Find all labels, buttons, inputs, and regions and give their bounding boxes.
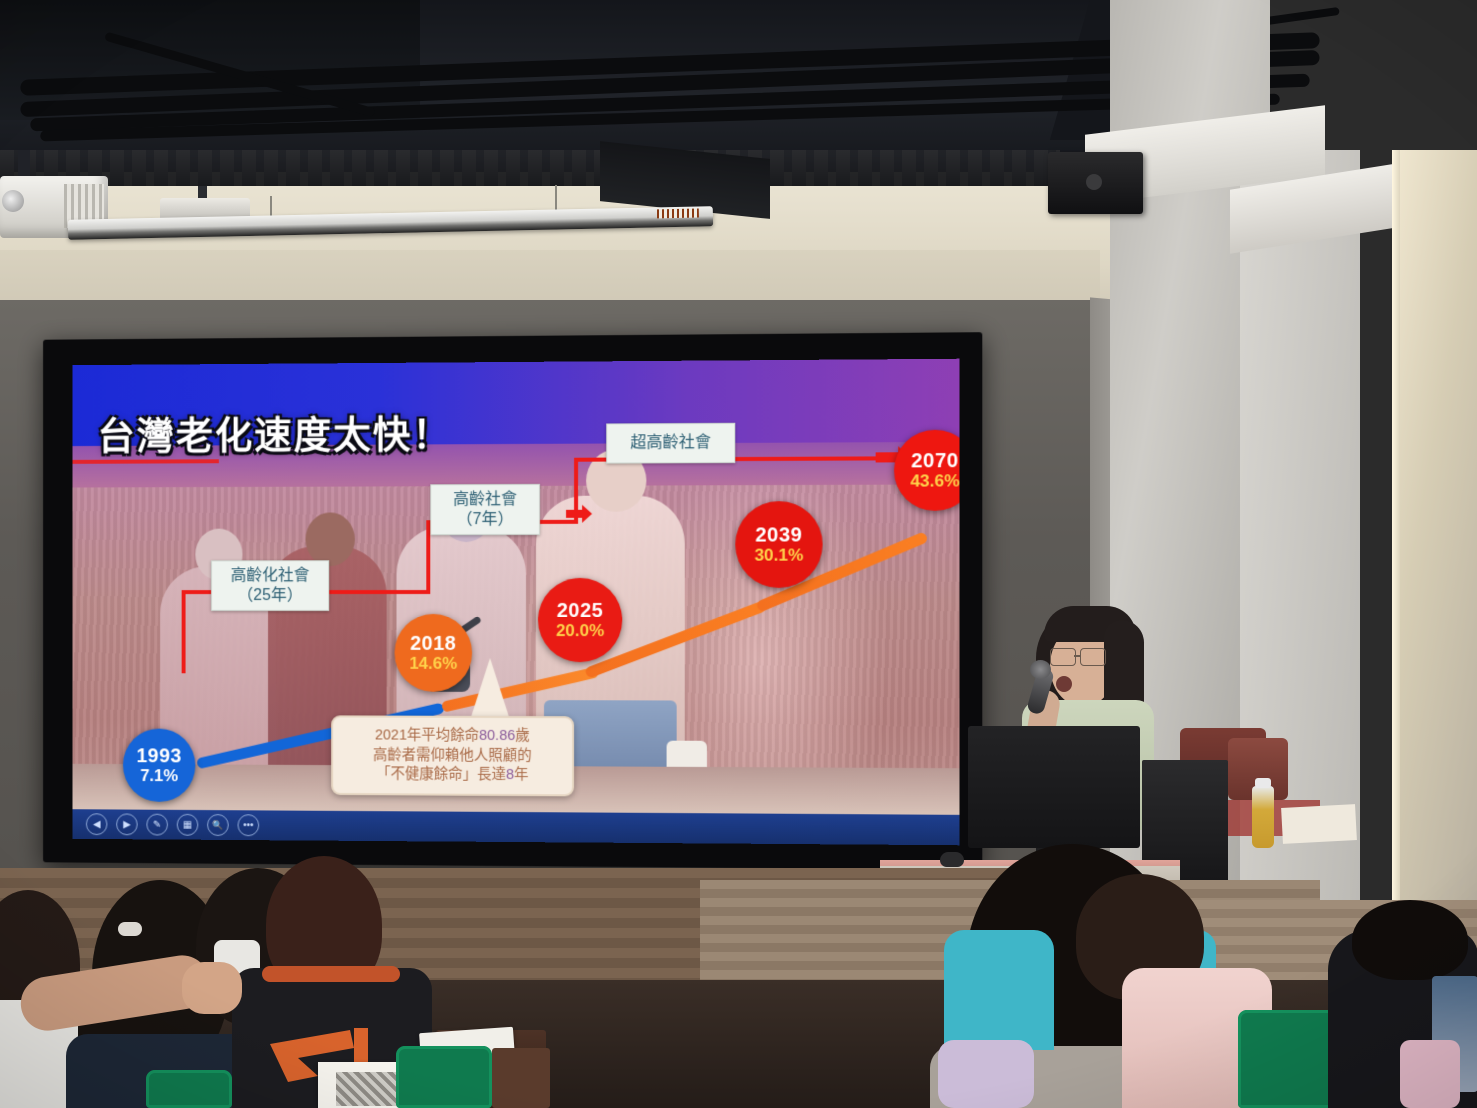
wall-speaker [1048, 152, 1143, 214]
chair[interactable] [396, 1046, 492, 1108]
callout-line3-a: 「不健康餘命」長達 [376, 766, 506, 783]
hair-clip-icon [118, 922, 142, 936]
projector-lens-icon [2, 190, 24, 212]
data-marker-2018[interactable]: 2018 14.6% [395, 614, 473, 692]
bracket-superaged-left [72, 459, 219, 464]
window [1400, 150, 1477, 910]
marker-2039-year: 2039 [755, 525, 802, 546]
label-aging-society-line1: 高齡化社會 [222, 566, 318, 585]
data-marker-1993[interactable]: 1993 7.1% [123, 729, 195, 803]
callout-line-3: 「不健康餘命」長達8年 [341, 765, 564, 786]
shirt-collar [262, 966, 400, 982]
pen-icon[interactable]: ✎ [146, 814, 168, 836]
papers-stack [1281, 804, 1357, 844]
callout-tail [470, 658, 510, 720]
data-marker-2025[interactable]: 2025 20.0% [538, 578, 622, 662]
callout-unhealthy-years-value: 8 [506, 767, 514, 783]
water-bottle [1252, 786, 1274, 848]
next-slide-icon[interactable]: ▶ [116, 813, 137, 835]
screenshot-root: 台灣老化速度太快！ 高齡化社會 （25年） 高齡社會 （7年） [0, 0, 1477, 1108]
photo-person-head [305, 512, 354, 566]
chair[interactable] [146, 1070, 232, 1108]
marker-2018-percent: 14.6% [409, 654, 457, 672]
audience-member-sleeve [938, 1040, 1034, 1108]
projection-screen[interactable]: 台灣老化速度太快！ 高齡化社會 （25年） 高齡社會 （7年） [72, 359, 959, 846]
audience-member-head [1352, 900, 1468, 980]
marker-2070-year: 2070 [911, 451, 959, 472]
all-slides-icon[interactable]: ▦ [177, 814, 199, 836]
desktop-monitor[interactable] [968, 726, 1140, 848]
more-options-icon[interactable]: ••• [238, 814, 260, 836]
bottle-cap [1255, 778, 1271, 788]
eyeglasses-icon [1050, 648, 1112, 664]
callout-line3-c: 年 [514, 767, 528, 783]
microphone-head-icon [1030, 660, 1051, 679]
callout-bubble: 2021年平均餘命80.86歲 高齡者需仰賴他人照顧的 「不健康餘命」長達8年 [331, 715, 574, 796]
audience-hand [182, 962, 242, 1014]
previous-slide-icon[interactable]: ◀ [86, 813, 107, 835]
callout-line1-c: 歲 [515, 728, 529, 744]
callout-line-1: 2021年平均餘命80.86歲 [341, 726, 564, 746]
zoom-icon[interactable]: 🔍 [207, 814, 229, 836]
audience-member-body [944, 930, 1054, 1050]
callout-line1-a: 2021年平均餘命 [375, 727, 479, 743]
callout-life-expectancy-value: 80.86 [479, 728, 515, 744]
marker-1993-percent: 7.1% [140, 767, 178, 785]
marker-2039-percent: 30.1% [754, 546, 803, 564]
marker-1993-year: 1993 [136, 746, 181, 767]
computer-mouse[interactable] [940, 852, 964, 867]
label-aged-society: 高齡社會 （7年） [430, 484, 540, 535]
audience-member-sleeve [1400, 1040, 1460, 1108]
speaker-driver-icon [1086, 174, 1102, 190]
label-aging-society-line2: （25年） [222, 586, 318, 605]
label-super-aged-society-line1: 超高齡社會 [617, 433, 724, 453]
marker-2018-year: 2018 [410, 633, 456, 654]
label-aged-society-line2: （7年） [441, 509, 529, 529]
callout-line-2: 高齡者需仰賴他人照顧的 [341, 746, 564, 767]
marker-2025-year: 2025 [557, 601, 604, 622]
label-aged-society-line1: 高齡社會 [441, 490, 529, 510]
slide-title: 台灣老化速度太快！ [98, 404, 453, 460]
screen-case-label [657, 209, 699, 219]
bracket-arrow-icon [566, 505, 592, 523]
audience-bag [492, 1048, 550, 1108]
bracket-aging-left [182, 590, 186, 673]
label-super-aged-society: 超高齡社會 [606, 423, 735, 463]
marker-2025-percent: 20.0% [556, 622, 604, 640]
presenter-mouth [1056, 676, 1072, 692]
data-marker-2039[interactable]: 2039 30.1% [735, 501, 822, 588]
marker-2070-percent: 43.6% [910, 472, 959, 490]
label-aging-society: 高齡化社會 （25年） [211, 560, 329, 611]
